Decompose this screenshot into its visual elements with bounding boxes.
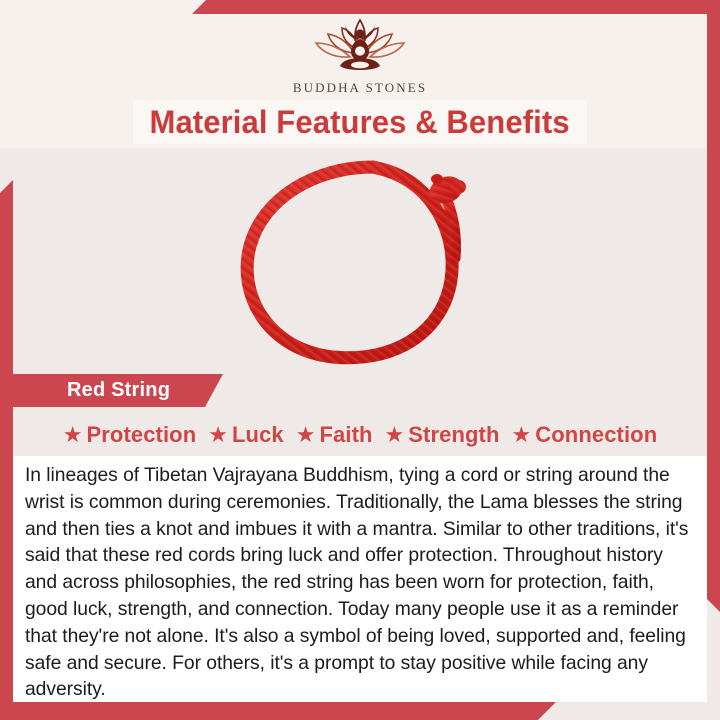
decorative-bottom-bar	[0, 702, 556, 720]
brand-name: BUDDHA STONES	[293, 80, 427, 96]
star-icon: ★	[385, 424, 405, 446]
decorative-top-bar	[192, 0, 720, 14]
star-icon: ★	[208, 424, 228, 446]
benefit-label: Protection	[86, 422, 196, 448]
product-image	[13, 150, 707, 372]
benefit-item-strength: ★ Strength	[385, 422, 500, 448]
benefits-list: ★ Protection ★ Luck ★ Faith ★ Strength ★…	[13, 418, 707, 452]
benefit-label: Connection	[535, 422, 657, 448]
star-icon: ★	[296, 424, 316, 446]
brand-logo: BUDDHA STONES	[0, 14, 720, 96]
benefit-label: Luck	[232, 422, 284, 448]
benefit-label: Faith	[319, 422, 372, 448]
benefit-item-connection: ★ Connection	[512, 422, 658, 448]
page-title: Material Features & Benefits	[150, 104, 570, 141]
benefit-label: Strength	[408, 422, 499, 448]
benefit-item-faith: ★ Faith	[296, 422, 373, 448]
star-icon: ★	[512, 424, 532, 446]
star-icon: ★	[63, 424, 83, 446]
decorative-left-bar	[0, 180, 13, 720]
product-label: Red String	[13, 379, 170, 402]
lotus-meditation-icon	[302, 14, 418, 78]
product-label-banner: Red String	[13, 374, 223, 407]
benefit-item-protection: ★ Protection	[63, 422, 197, 448]
red-string-bracelet-image	[225, 154, 495, 369]
description-text: In lineages of Tibetan Vajrayana Buddhis…	[25, 462, 690, 703]
page-title-band: Material Features & Benefits	[133, 100, 587, 144]
benefit-item-luck: ★ Luck	[208, 422, 283, 448]
description-panel: In lineages of Tibetan Vajrayana Buddhis…	[13, 456, 707, 702]
infographic-page: BUDDHA STONES Material Features & Benefi…	[0, 0, 720, 720]
